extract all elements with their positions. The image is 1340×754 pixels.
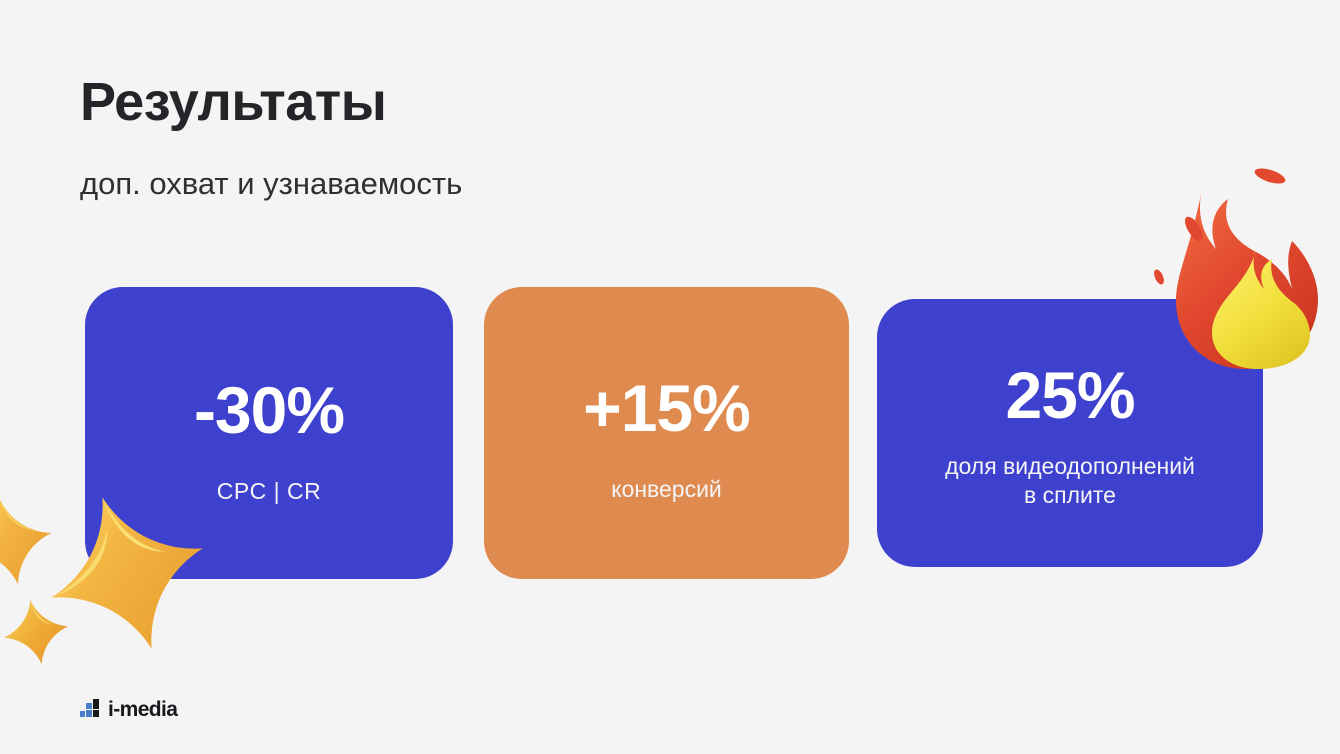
sparkle-icon xyxy=(2,598,70,666)
logo-text: i-media xyxy=(108,700,177,720)
stat-card-video-share: 25% доля видеодополнений в сплите xyxy=(877,299,1263,567)
stat-card-cpc-cr: -30% CPC | CR xyxy=(85,287,453,579)
page-subtitle: доп. охват и узнаваемость xyxy=(80,167,980,201)
stat-card-conversions: +15% конверсий xyxy=(484,287,849,579)
presentation-slide: Результаты доп. охват и узнаваемость xyxy=(0,0,1340,754)
stat-label: CPC | CR xyxy=(217,477,322,506)
page-title: Результаты xyxy=(80,74,980,131)
logo: i-media xyxy=(80,694,177,720)
sparkle-icon xyxy=(0,494,54,590)
stat-label: конверсий xyxy=(611,475,722,504)
heading-block: Результаты доп. охват и узнаваемость xyxy=(80,74,980,201)
stat-value: -30% xyxy=(194,377,344,443)
stat-label: доля видеодополнений в сплите xyxy=(945,452,1195,510)
stat-value: +15% xyxy=(583,375,750,441)
stat-value: 25% xyxy=(1005,362,1134,428)
logo-mark-icon xyxy=(80,699,105,720)
